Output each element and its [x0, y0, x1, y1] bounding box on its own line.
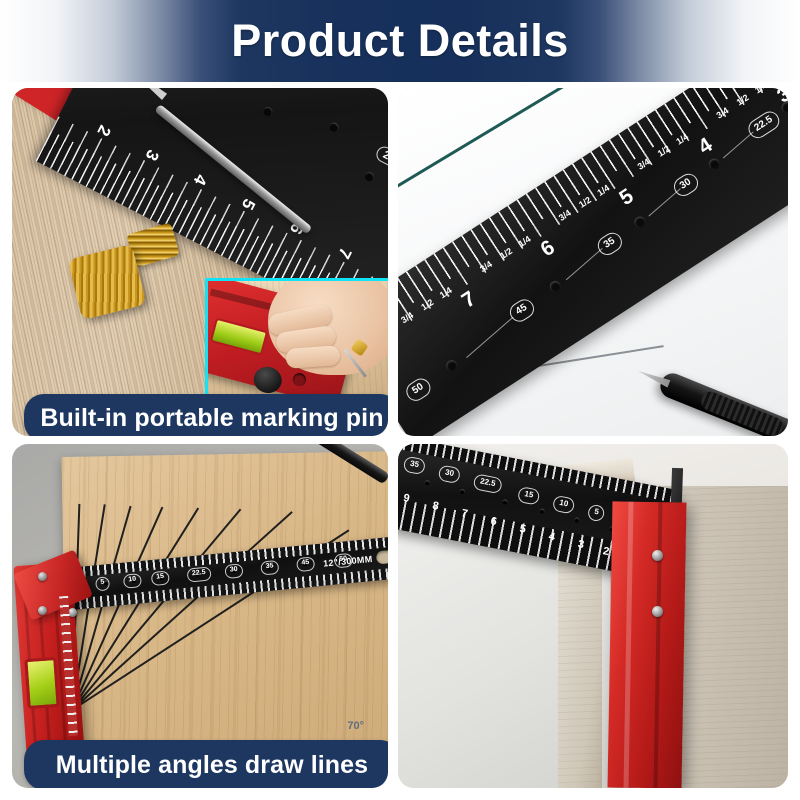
base-highlight-edge [624, 502, 634, 788]
green-bubble-vial [24, 657, 59, 709]
panel-grid: 2 3 4 5 6 7 15 22 [0, 84, 800, 800]
thickened-base-photo: 10 9 8 7 6 5 4 3 2 1 45 35 30 22.5 15 10… [398, 444, 788, 788]
angle-oval-225: 22.5 [472, 473, 502, 494]
angle-oval-5: 5 [587, 504, 606, 523]
inset-photo-frame[interactable] [205, 278, 388, 398]
caption-multiple-angles: Multiple angles draw lines [24, 740, 388, 788]
angle-oval-35: 35 [403, 456, 427, 476]
angle-mark-70: 70° [347, 720, 364, 732]
base-shadow-edge [654, 502, 663, 788]
inset-pin-socket [291, 372, 307, 388]
angle-oval-35: 35 [594, 229, 625, 259]
marking-pin-photo: 2 3 4 5 6 7 15 22 [12, 88, 388, 436]
red-thickened-base [608, 501, 687, 788]
panel-thickened-base[interactable]: 10 9 8 7 6 5 4 3 2 1 45 35 30 22.5 15 10… [398, 444, 788, 788]
precise-scale-photo: 8 7 6 5 4 3 2 3/4 1/2 1/4 3/4 1/2 1/4 3/… [398, 88, 788, 436]
page-header: Product Details [0, 0, 800, 82]
screw-icon [38, 572, 47, 581]
door-frame-jamb [558, 544, 602, 788]
caption-marking-pin: Built-in portable marking pin [24, 394, 388, 436]
multiple-angles-photo: 5 10 15 22.5 30 35 45 50 12"/300MM [12, 444, 388, 788]
panel-multiple-angles[interactable]: 5 10 15 22.5 30 35 45 50 12"/300MM [12, 444, 388, 788]
angle-oval-10: 10 [552, 495, 576, 515]
page-title: Product Details [231, 15, 569, 67]
angle-oval-45: 45 [506, 296, 537, 326]
screw-icon [652, 606, 663, 617]
angle-oval-30: 30 [438, 464, 462, 484]
angle-oval-50: 50 [403, 375, 434, 405]
screw-icon [38, 606, 47, 615]
panel-precise-scale[interactable]: 8 7 6 5 4 3 2 3/4 1/2 1/4 3/4 1/2 1/4 3/… [398, 88, 788, 436]
angle-oval-30: 30 [670, 170, 701, 200]
screw-icon [652, 550, 663, 561]
angle-oval-15: 15 [517, 486, 541, 506]
inset-bubble-vial [210, 317, 269, 355]
angle-oval-225: 22.5 [745, 108, 783, 142]
panel-marking-pin[interactable]: 2 3 4 5 6 7 15 22 [12, 88, 388, 436]
